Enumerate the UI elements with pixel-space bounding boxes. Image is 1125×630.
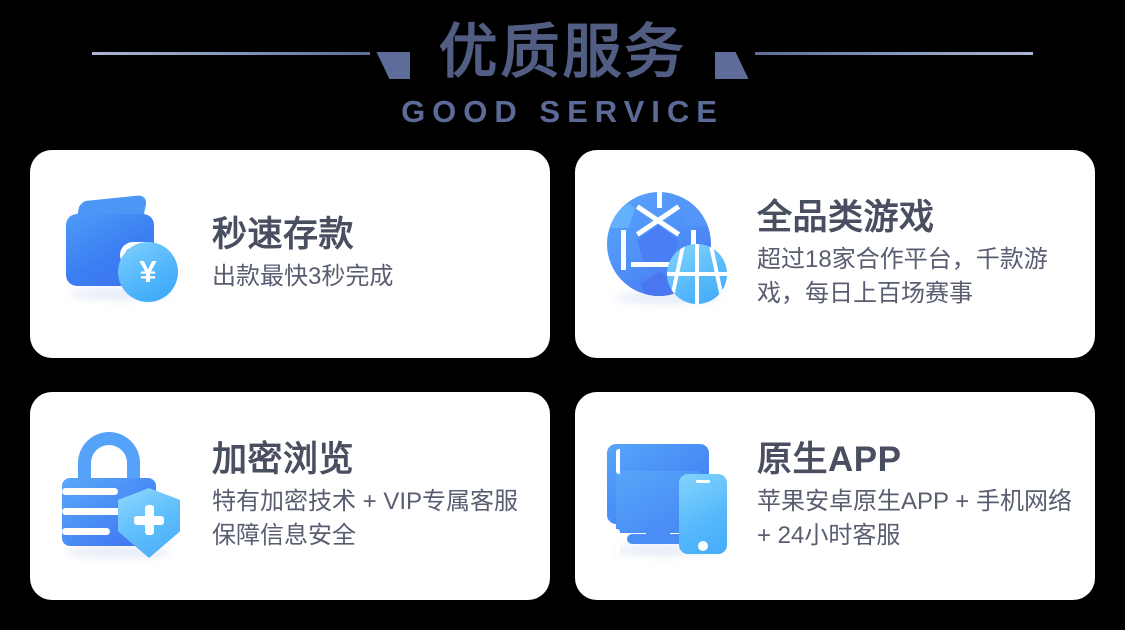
decorative-rule-right-icon <box>693 22 1065 82</box>
feature-card-text: 全品类游戏 超过18家合作平台，千款游戏，每日上百场赛事 <box>757 197 1073 311</box>
feature-card-title: 秒速存款 <box>212 214 528 255</box>
soccer-basketball-icon <box>601 184 751 324</box>
lock-shield-icon <box>56 426 206 566</box>
decorative-rule-left-icon <box>60 22 432 82</box>
header-title-row: 优质服务 <box>0 14 1125 90</box>
feature-card-text: 加密浏览 特有加密技术 + VIP专属客服保障信息安全 <box>212 439 528 553</box>
feature-card-games[interactable]: 全品类游戏 超过18家合作平台，千款游戏，每日上百场赛事 <box>575 150 1095 358</box>
monitor-phone-icon <box>601 426 751 566</box>
feature-card-description: 超过18家合作平台，千款游戏，每日上百场赛事 <box>757 243 1073 311</box>
feature-card-text: 秒速存款 出款最快3秒完成 <box>212 214 528 294</box>
feature-card-title: 全品类游戏 <box>757 197 1073 238</box>
promo-banner: 优质服务 GOOD SERVICE ¥ 秒速存款 出款最快3秒完成 <box>0 0 1125 630</box>
feature-card-grid: ¥ 秒速存款 出款最快3秒完成 <box>30 150 1095 600</box>
phone-icon <box>679 474 727 554</box>
feature-card-deposit[interactable]: ¥ 秒速存款 出款最快3秒完成 <box>30 150 550 358</box>
feature-card-description: 出款最快3秒完成 <box>212 260 528 294</box>
feature-card-encryption[interactable]: 加密浏览 特有加密技术 + VIP专属客服保障信息安全 <box>30 392 550 600</box>
feature-card-description: 特有加密技术 + VIP专属客服保障信息安全 <box>212 485 528 553</box>
banner-header: 优质服务 GOOD SERVICE <box>0 0 1125 140</box>
feature-card-title: 原生APP <box>757 439 1073 480</box>
wallet-icon: ¥ <box>56 184 206 324</box>
feature-card-description: 苹果安卓原生APP + 手机网络 + 24小时客服 <box>757 485 1073 553</box>
yen-coin-icon: ¥ <box>118 242 178 302</box>
page-subtitle: GOOD SERVICE <box>0 96 1125 127</box>
feature-card-text: 原生APP 苹果安卓原生APP + 手机网络 + 24小时客服 <box>757 439 1073 553</box>
feature-card-title: 加密浏览 <box>212 439 528 480</box>
page-title: 优质服务 <box>432 23 692 82</box>
feature-card-native-app[interactable]: 原生APP 苹果安卓原生APP + 手机网络 + 24小时客服 <box>575 392 1095 600</box>
